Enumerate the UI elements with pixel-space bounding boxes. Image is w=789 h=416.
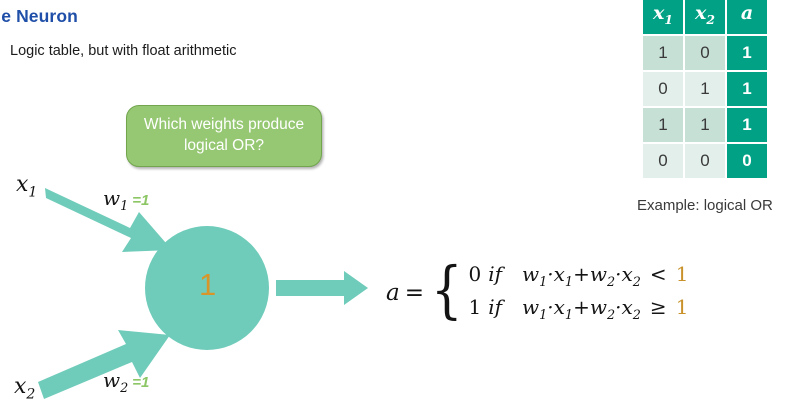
equation-case-0-if: if [488, 262, 502, 286]
equation-case-1-if: if [488, 295, 502, 319]
table-row: 0 1 1 [643, 72, 767, 106]
equation-case-1-threshold: 1 [676, 295, 689, 319]
input-label-x2: x2 [14, 374, 35, 402]
truth-table-header-x2: x2 [685, 0, 725, 34]
equation-equals: = [405, 280, 424, 306]
truth-table-header-x1: x1 [643, 0, 683, 34]
weight-label-w2-sub: 2 [120, 381, 128, 396]
cell-x1: 1 [643, 108, 683, 142]
truth-table: x1 x2 a 1 0 1 0 1 1 1 1 1 0 0 0 [641, 0, 769, 180]
weight-label-w2-main: w [103, 368, 120, 392]
input-label-x2-main: x [14, 374, 26, 399]
equation-case-1: 1 if w1·x1+w2·x2 ≥ 1 [468, 295, 688, 323]
activation-equation: a = { 0 if w1·x1+w2·x2 < 1 1 if w1·x1+w2… [386, 262, 688, 323]
page-title: Single Neuron [0, 6, 78, 27]
output-arrow [276, 271, 368, 305]
table-row: 1 1 1 [643, 108, 767, 142]
cell-x1: 1 [643, 36, 683, 70]
table-row: 0 0 0 [643, 144, 767, 178]
weight-value-w1: =1 [132, 192, 149, 209]
weight-value-w2: =1 [132, 374, 149, 391]
equation-brace: { [431, 266, 463, 314]
cell-a: 1 [727, 72, 767, 106]
weight-label-w1: w1=1 [103, 186, 149, 214]
cell-x1: 0 [643, 144, 683, 178]
equation-case-0-result: 0 [468, 262, 481, 286]
input-label-x1-sub: 1 [28, 184, 37, 200]
page-subtitle: Logic table, but with float arithmetic [10, 43, 236, 59]
cell-x2: 0 [685, 36, 725, 70]
input-label-x1-main: x [16, 172, 28, 197]
cell-a: 1 [727, 108, 767, 142]
equation-case-0-threshold: 1 [676, 262, 689, 286]
equation-case-1-result: 1 [468, 295, 481, 319]
input-label-x2-sub: 2 [26, 386, 35, 402]
cell-x2: 1 [685, 72, 725, 106]
cell-a: 1 [727, 36, 767, 70]
weight-label-w1-sub: 1 [120, 199, 128, 214]
equation-case-1-body: w1·x1+w2·x2 [522, 295, 641, 323]
truth-table-caption: Example: logical OR [637, 197, 773, 214]
weight-label-w1-main: w [103, 186, 120, 210]
equation-lhs: a [386, 280, 400, 306]
truth-table-header-row: x1 x2 a [643, 0, 767, 34]
equation-case-0-comparator: < [650, 262, 667, 286]
equation-case-1-comparator: ≥ [650, 295, 667, 319]
cell-x1: 0 [643, 72, 683, 106]
table-row: 1 0 1 [643, 36, 767, 70]
truth-table-header-a: a [727, 0, 767, 34]
weight-label-w2: w2=1 [103, 368, 149, 396]
input-label-x1: x1 [16, 172, 37, 200]
cell-a: 0 [727, 144, 767, 178]
equation-case-0-body: w1·x1+w2·x2 [522, 262, 641, 290]
equation-case-0: 0 if w1·x1+w2·x2 < 1 [468, 262, 688, 290]
cell-x2: 0 [685, 144, 725, 178]
neuron-value-label: 1 [199, 269, 216, 300]
cell-x2: 1 [685, 108, 725, 142]
